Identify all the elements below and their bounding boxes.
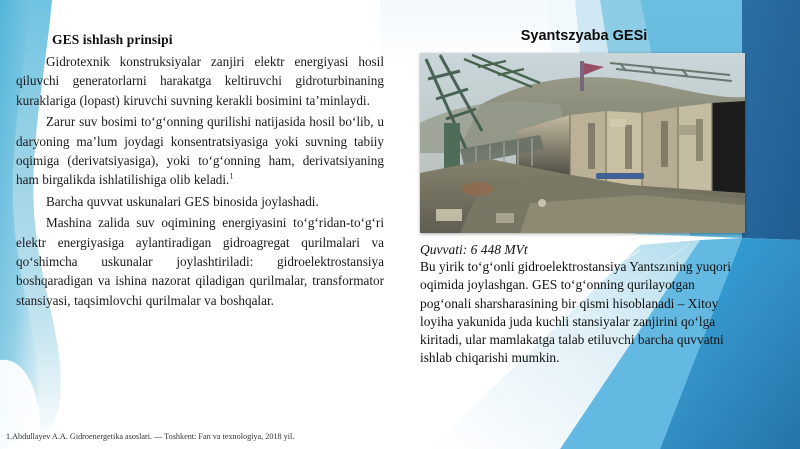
footnote-reference: 1.Abdullayev A.A. Gidroenergetika asosla… xyxy=(6,432,294,441)
paragraph-1: Gidrotexnik konstruksiyalar zanjiri elek… xyxy=(16,52,384,110)
section-title: GES ishlash prinsipi xyxy=(16,32,384,48)
paragraph-2: Zarur suv bosimi to‘g‘onning qurilishi n… xyxy=(16,112,384,190)
power-caption: Quvvati: 6 448 MVt xyxy=(420,241,788,258)
paragraph-4: Mashina zalida suv oqimining energiyasin… xyxy=(16,213,384,310)
paragraph-2-text: Zarur suv bosimi to‘g‘onning qurilishi n… xyxy=(16,114,384,187)
station-description: Bu yirik to‘g‘onli gidroelektrostansiya … xyxy=(420,258,740,367)
footnote-marker: 1 xyxy=(229,172,233,181)
slide-canvas: GES ishlash prinsipi Gidrotexnik konstru… xyxy=(0,0,800,449)
right-content-column: Syantszyaba GESi xyxy=(420,28,788,368)
paragraph-3: Barcha quvvat uskunalari GES binosida jo… xyxy=(16,192,384,211)
photo-artwork xyxy=(420,53,745,233)
left-text-column: GES ishlash prinsipi Gidrotexnik konstru… xyxy=(16,32,384,310)
slide-heading: Syantszyaba GESi xyxy=(420,28,788,44)
dam-construction-photo xyxy=(420,53,745,233)
